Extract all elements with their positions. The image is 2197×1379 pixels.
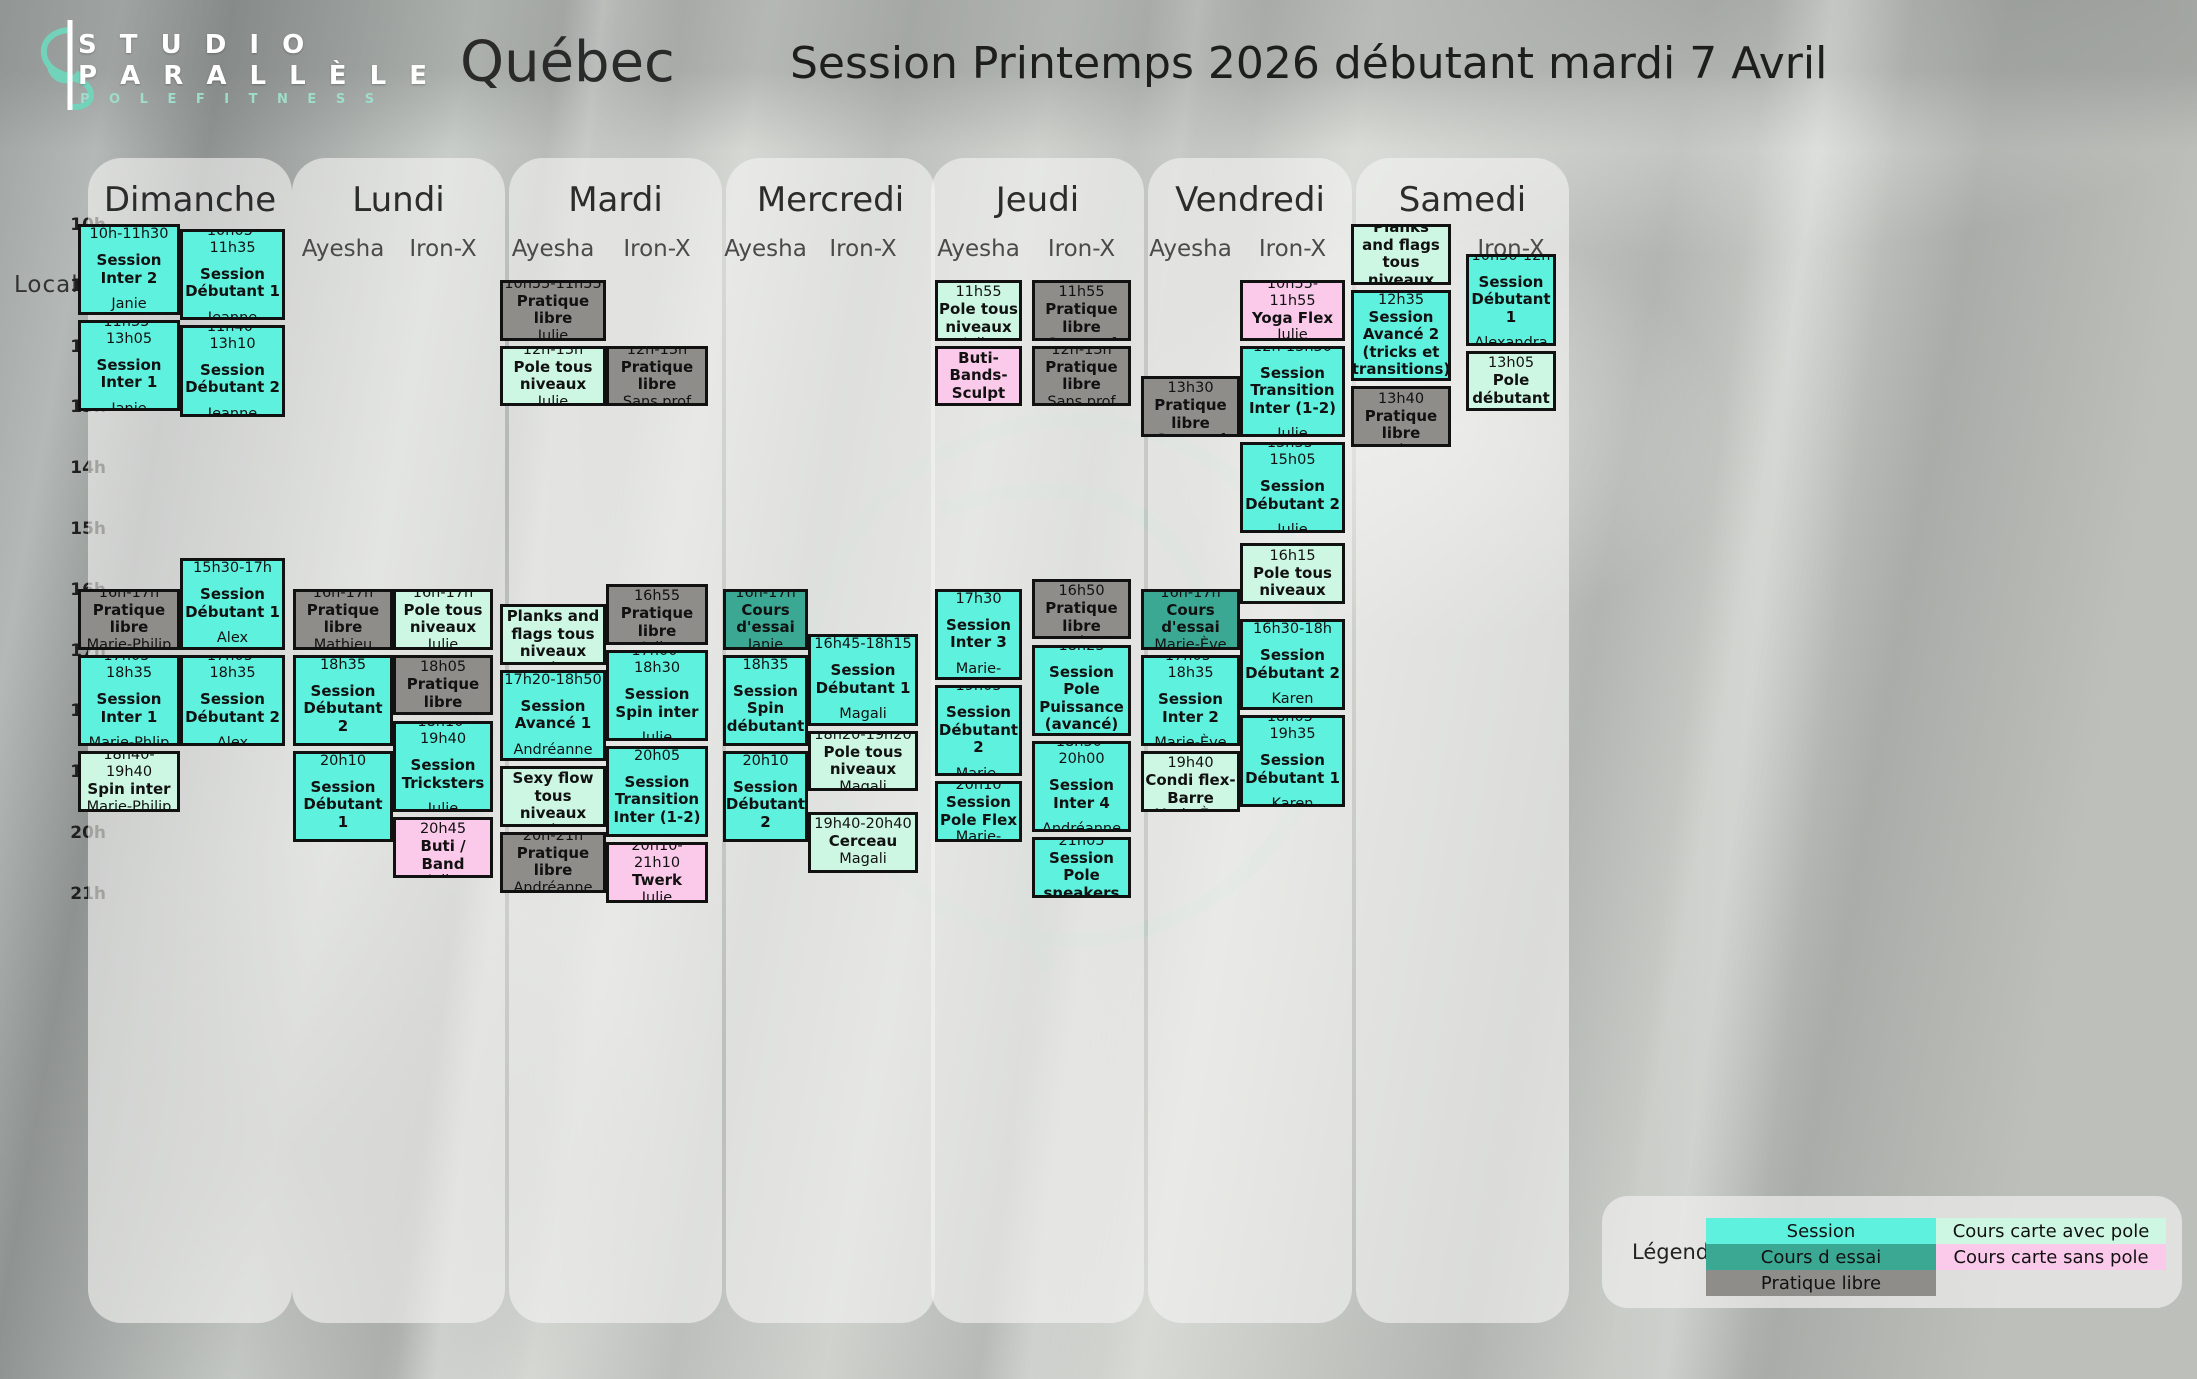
event-instructor: Julie [428, 873, 458, 877]
room-label-b-mardi: Iron-X [606, 236, 708, 262]
event-name: Pratique libre [1036, 359, 1127, 394]
event-instructor: Julie [1277, 426, 1307, 436]
event-name: Pole tous niveaux [939, 301, 1018, 336]
event-block[interactable]: 18h10-19h40Session TrickstersJulie [393, 721, 493, 812]
event-instructor: Alexandra [1474, 407, 1547, 411]
event-name: Session Tricksters [397, 757, 489, 792]
event-time: 17h05-18h35 [297, 655, 389, 674]
event-block[interactable]: 17h20-18h50Session Avancé 1Andréanne [500, 670, 606, 761]
event-name: Pole tous niveaux [504, 359, 602, 394]
event-time: 16h-17h [735, 589, 796, 602]
event-instructor: Marie-Phlip [89, 735, 170, 746]
event-time: 17h05-18h35 [1145, 655, 1236, 683]
event-time: 16h-17h [413, 589, 474, 602]
event-instructor: Sans prof [1156, 432, 1224, 436]
event-instructor: Julie [1277, 522, 1307, 533]
event-name: Buti-Bands-Sculpt [939, 350, 1018, 403]
event-time: 12h-13h [627, 346, 688, 359]
event-name: Pratique libre [504, 845, 602, 880]
event-block[interactable]: 19h45-20h45Buti / BandJulie [393, 817, 493, 878]
event-name: Session Débutant 2 [1244, 647, 1341, 682]
event-block[interactable]: 18h40-19h40Spin interMarie-Philip [78, 751, 180, 812]
event-time: 15h50-16h50 [1036, 579, 1127, 600]
event-name: Session Pole Puissance (avancé) [1036, 664, 1127, 734]
event-block[interactable]: 12h-13hButi-Bands-SculptJulie [935, 346, 1022, 407]
event-instructor: Sans prof [1047, 336, 1115, 340]
event-time: 16h55-18h25 [1036, 645, 1127, 655]
room-label-a-mercredi: Ayesha [723, 236, 808, 262]
event-time: 16h-17h [99, 589, 160, 602]
event-block[interactable]: 20h-21hPratique libreAndréanne [500, 832, 606, 893]
event-name: Session Débutant 1 [184, 586, 281, 621]
event-instructor: Julie [428, 637, 458, 650]
event-instructor: Janie [748, 637, 783, 650]
event-block[interactable]: 10h55-11h55Pratique libreSans prof [1032, 280, 1131, 341]
day-title-samedi: Samedi [1356, 180, 1569, 220]
event-instructor: Andréanne [513, 880, 592, 893]
event-block[interactable]: 10h05-11h35Session Débutant 1Jeanne [180, 229, 285, 320]
event-time: 18h40-20h10 [727, 751, 804, 770]
event-name: Session Inter 4 [1036, 777, 1127, 812]
event-time: 17h05-18h35 [82, 655, 176, 683]
event-name: Pratique libre [610, 359, 704, 394]
event-block[interactable]: 20h05-21h05Session Pole sneakersAndréann… [1032, 837, 1131, 898]
event-instructor: Karen [1272, 796, 1314, 807]
event-name: Buti / Band [397, 838, 489, 873]
event-time: 12h-13h30 [1253, 346, 1332, 356]
event-block[interactable]: 16h-17hCours d'essaiMarie-Ève [1141, 589, 1240, 650]
event-block[interactable]: 10h-11h30Session Inter 2Janie [78, 224, 180, 315]
event-name: Pratique libre [297, 602, 389, 637]
room-label-a-mardi: Ayesha [500, 236, 606, 262]
event-instructor: Marie-Philip [87, 799, 172, 812]
legend-item: Session [1706, 1218, 1936, 1244]
event-name: Pratique libre [1036, 301, 1127, 336]
event-block[interactable]: 18h40-20h10Session Débutant 1Mathieu [293, 751, 393, 842]
event-block[interactable]: 12h-13hPole tous niveauxJulie [500, 346, 606, 407]
event-time: 12h05-13h05 [1470, 351, 1552, 372]
event-block[interactable]: 18h55-19h55Sexy flow tous niveauxAndréan… [500, 766, 606, 827]
event-block[interactable]: 17h35-19h05Session Débutant 2Marie-Phili… [935, 685, 1022, 776]
event-time: 17h00-18h30 [610, 650, 704, 678]
event-block[interactable]: 17h05-18h35Session Spin débutantJanie [723, 655, 808, 746]
event-block[interactable]: 10h-11hPlanks and flags tous niveauxAndr… [1351, 224, 1451, 285]
event-time: 18h30-20h00 [1036, 741, 1127, 769]
event-block[interactable]: 10h55-11h55Pratique libreJulie [500, 280, 606, 341]
event-time: 17h05-18h35 [184, 655, 281, 683]
event-time: 15h30-17h [193, 560, 272, 577]
event-name: Pratique libre [1355, 408, 1447, 443]
event-block[interactable]: 12h05-13h05Pole débutantAlexandra [1466, 351, 1556, 412]
event-block[interactable]: 12h-13h30Session Transition Inter (1-2)J… [1240, 346, 1345, 437]
event-time: 11h05-12h35 [1355, 290, 1447, 309]
event-instructor: Magali [839, 779, 887, 792]
event-time: 19h45-20h45 [397, 817, 489, 838]
event-block[interactable]: 10h55-11h55Yoga FlexJulie [1240, 280, 1345, 341]
event-instructor: Mathieu [314, 840, 372, 842]
event-block[interactable]: 19h40-20h40CerceauMagali [808, 812, 918, 873]
event-name: Session Pole sneakers [1036, 850, 1127, 898]
event-instructor: Julie [642, 835, 672, 837]
event-instructor: Sans prof [623, 394, 691, 407]
event-time: 15h15-16h15 [1244, 543, 1341, 564]
event-block[interactable]: 18h30-20h00Session Inter 4Andréanne [1032, 741, 1131, 832]
event-block[interactable]: 18h35-20h05Session Transition Inter (1-2… [606, 746, 708, 837]
legend-item: Cours d essai [1706, 1244, 1936, 1270]
event-name: Cours d'essai [1145, 602, 1236, 637]
event-block[interactable]: 16h15-17h15Planks and flags tous niveaux… [500, 604, 606, 665]
event-name: Session Pole Flex [939, 794, 1018, 829]
event-block[interactable]: 11h35-13h05Session Inter 1Janie [78, 320, 180, 411]
event-instructor: Marie-Ève [1154, 637, 1226, 650]
event-instructor: Magali [839, 851, 887, 868]
event-name: Pratique libre [82, 602, 176, 637]
event-time: 20h10-21h10 [610, 842, 704, 872]
event-name: Pole tous niveaux [812, 744, 914, 779]
event-instructor: Andréanne [513, 742, 592, 759]
event-name: Pratique libre [504, 293, 602, 328]
event-time: 17h05-18h05 [397, 655, 489, 676]
event-instructor: Andréanne [1042, 821, 1121, 832]
brand-name: S T U D I O P A R A L L È L E [78, 30, 434, 92]
event-time: 18h40-20h10 [297, 751, 389, 770]
event-time: 10h30-12h [1472, 254, 1551, 264]
event-instructor: Julie [642, 890, 672, 903]
event-block[interactable]: 19h10-20h10Session Pole FlexMarie-Philip [935, 781, 1022, 842]
event-time: 12h-13h [1051, 346, 1112, 359]
room-label-b-lundi: Iron-X [393, 236, 493, 262]
room-label-b-vendredi: Iron-X [1240, 236, 1345, 262]
event-instructor: Karen [1272, 691, 1314, 708]
event-name: Pratique libre [1145, 397, 1236, 432]
event-name: Session Débutant 2 [1244, 478, 1341, 513]
event-name: Planks and flags tous niveaux [1355, 224, 1447, 285]
event-name: Condi flex-Barre [1145, 772, 1236, 807]
event-name: Pole tous niveaux [397, 602, 489, 637]
day-title-mercredi: Mercredi [726, 180, 935, 220]
event-name: Session Débutant 2 [184, 691, 281, 726]
event-instructor: Sans prof [1047, 394, 1115, 407]
event-time: 18h40-19h40 [82, 751, 176, 781]
event-name: Session Débutant 2 [939, 704, 1018, 757]
event-instructor: Julie [428, 711, 458, 715]
event-instructor: Andréanne [1361, 379, 1440, 381]
event-block[interactable]: 11h40-13h10Session Débutant 2Jeanne [180, 325, 285, 416]
event-time: 16h00-17h30 [939, 589, 1018, 608]
event-block[interactable]: 10h55-11h55Pole tous niveauxJulie [935, 280, 1022, 341]
event-instructor: Julie [963, 402, 993, 406]
event-block[interactable]: 15h55-16h55Pratique libreJulie [606, 584, 708, 645]
event-time: 18h05-19h35 [1244, 715, 1341, 743]
event-instructor: Julie [642, 640, 672, 644]
event-time: 20h-21h [523, 832, 584, 845]
event-block[interactable]: 10h30-12hSession Débutant 1Alexandra [1466, 254, 1556, 345]
event-name: Pratique libre [1036, 600, 1127, 635]
legend-item: Pratique libre [1706, 1270, 1936, 1296]
event-name: Twerk [632, 872, 682, 890]
event-time: 10h05-11h35 [184, 229, 281, 257]
room-label-b-mercredi: Iron-X [808, 236, 918, 262]
legend-item: Cours carte avec pole [1936, 1218, 2166, 1244]
room-label-a-jeudi: Ayesha [935, 236, 1022, 262]
event-instructor: Julie [428, 801, 458, 812]
event-block[interactable]: 17h05-18h35Session Inter 2Marie-Ève [1141, 655, 1240, 746]
event-time: 12h40-13h40 [1355, 386, 1447, 407]
event-instructor: Janie [748, 744, 783, 746]
event-name: Session Débutant 1 [184, 266, 281, 301]
event-time: 16h30-18h [1253, 621, 1332, 638]
event-name: Session Spin débutant [727, 683, 804, 736]
event-instructor: Julie [538, 328, 568, 341]
event-name: Session Inter 2 [1145, 691, 1236, 726]
room-label-a-lundi: Ayesha [293, 236, 393, 262]
brand-name-line1: S T U D I O [78, 30, 434, 61]
room-label-b-jeudi: Iron-X [1032, 236, 1131, 262]
event-instructor: Julie [963, 336, 993, 340]
event-instructor: Mathieu [314, 637, 372, 650]
day-title-mardi: Mardi [509, 180, 722, 220]
event-name: Sexy flow tous niveaux [504, 770, 602, 823]
event-name: Session Débutant 1 [1244, 752, 1341, 787]
event-name: Session Débutant 1 [297, 779, 389, 832]
event-time: 20h05-21h05 [1036, 837, 1127, 850]
event-instructor: Jeanne [208, 406, 257, 417]
event-block[interactable]: 16h30-18hSession Débutant 2Karen [1240, 619, 1345, 710]
event-block[interactable]: 17h05-18h35Session Débutant 2Mathieu [293, 655, 393, 746]
event-time: 18h20-19h20 [814, 731, 911, 744]
event-block[interactable]: 13h35-15h05Session Débutant 2Julie [1240, 442, 1345, 533]
event-instructor: Alex [217, 735, 248, 746]
event-time: 19h40-20h40 [814, 816, 911, 833]
event-name: Session Transition Inter (1-2) [1244, 365, 1341, 418]
event-name: Session Avancé 1 [504, 698, 602, 733]
event-block[interactable]: 18h40-19h40Condi flex-BarreMarie-Ève [1141, 751, 1240, 812]
event-name: Planks and flags tous niveaux [504, 608, 602, 661]
event-instructor: Magali [839, 706, 887, 723]
event-block[interactable]: 16h45-18h15Session Débutant 1Magali [808, 634, 918, 725]
event-block[interactable]: 12h-13hPratique libreSans prof [606, 346, 708, 407]
event-instructor: Marie-Philip [939, 766, 1018, 776]
event-instructor: Marie-Ève [1154, 807, 1226, 811]
event-time: 10h55-11h55 [504, 280, 601, 293]
event-block[interactable]: 16h-17hPratique libreMathieu [293, 589, 393, 650]
event-instructor: Jeanne [208, 310, 257, 321]
event-instructor: Mathieu [314, 744, 372, 746]
event-name: Session Spin inter [610, 686, 704, 721]
event-name: Session Inter 3 [939, 617, 1018, 652]
city-title: Québec [460, 30, 675, 95]
event-block[interactable]: 16h-17hCours d'essaiJanie [723, 589, 808, 650]
event-instructor: Janie [111, 401, 146, 412]
day-title-vendredi: Vendredi [1148, 180, 1352, 220]
event-instructor: Andréanne [1042, 635, 1121, 639]
event-instructor: Marie-Ève [1154, 735, 1226, 746]
event-instructor: Alex [217, 630, 248, 647]
room-label-a-vendredi: Ayesha [1141, 236, 1240, 262]
event-block[interactable]: 15h15-16h15Pole tous niveauxJulie [1240, 543, 1345, 604]
event-time: 10h55-11h55 [1244, 280, 1341, 310]
event-time: 12h-13h [523, 346, 584, 359]
event-time: 16h-17h [313, 589, 374, 602]
event-instructor: Andréanne [513, 661, 592, 665]
event-time: 11h35-13h05 [82, 320, 176, 348]
day-title-dimanche: Dimanche [88, 180, 292, 220]
event-block[interactable]: 12h40-13h40Pratique libreAndréanne [1351, 386, 1451, 447]
event-instructor: Julie [538, 394, 568, 407]
event-block[interactable]: 15h50-16h50Pratique libreAndréanne [1032, 579, 1131, 640]
brand-tagline: P O L E F I T N E S S [80, 92, 382, 107]
event-instructor: Marie-Philip [87, 637, 172, 650]
event-instructor: Alexandra [1474, 335, 1547, 345]
event-block[interactable]: 17h00-18h30Session Spin interJulie [606, 650, 708, 741]
event-time: 13h35-15h05 [1244, 442, 1341, 470]
event-block[interactable]: 12h30-13h30Pratique libreSans prof [1141, 376, 1240, 437]
event-instructor: Julie [1277, 600, 1307, 604]
event-instructor: Julie [1277, 327, 1307, 340]
event-time: 11h40-13h10 [184, 325, 281, 353]
event-name: Yoga Flex [1252, 310, 1333, 328]
event-time: 18h35-20h05 [610, 746, 704, 765]
event-time: 17h35-19h05 [939, 685, 1018, 695]
event-instructor: Julie [642, 730, 672, 741]
event-time: 18h10-19h40 [397, 721, 489, 749]
event-name: Cerceau [829, 833, 897, 851]
event-time: 10h55-11h55 [1036, 280, 1127, 301]
event-name: Session Débutant 1 [1470, 274, 1552, 327]
event-block[interactable]: 17h05-18h35Session Débutant 2Alex [180, 655, 285, 746]
event-name: Session Débutant 2 [297, 683, 389, 736]
event-block[interactable]: 12h-13hPratique libreSans prof [1032, 346, 1131, 407]
event-name: Session Inter 1 [82, 691, 176, 726]
event-time: 18h40-19h40 [1145, 751, 1236, 772]
day-title-jeudi: Jeudi [931, 180, 1144, 220]
event-block[interactable]: 16h-17hPratique libreMarie-Philip [78, 589, 180, 650]
event-block[interactable]: 16h00-17h30Session Inter 3Marie-Philip [935, 589, 1022, 680]
event-instructor: Marie-Philip [939, 661, 1018, 680]
event-block[interactable]: 17h05-18h35Session Inter 1Marie-Phlip [78, 655, 180, 746]
event-time: 17h20-18h50 [504, 672, 601, 689]
event-time: 16h-17h [1160, 589, 1221, 602]
event-name: Session Débutant 2 [184, 362, 281, 397]
event-name: Session Inter 1 [82, 357, 176, 392]
event-block[interactable]: 16h-17hPole tous niveauxJulie [393, 589, 493, 650]
event-block[interactable]: 15h30-17hSession Débutant 1Alex [180, 558, 285, 649]
event-name: Pratique libre [610, 605, 704, 640]
day-title-lundi: Lundi [292, 180, 505, 220]
event-instructor: Andréanne [513, 823, 592, 827]
event-name: Cours d'essai [727, 602, 804, 637]
event-time: 16h45-18h15 [814, 636, 911, 653]
event-time: 17h05-18h35 [727, 655, 804, 674]
event-instructor: Janie [748, 840, 783, 842]
event-block[interactable]: 18h05-19h35Session Débutant 1Karen [1240, 715, 1345, 806]
event-instructor: Marie-Philip [939, 829, 1018, 842]
event-instructor: Andréanne [1361, 443, 1440, 447]
event-block[interactable]: 16h55-18h25Session Pole Puissance (avanc… [1032, 645, 1131, 736]
event-name: Session Transition Inter (1-2) [610, 774, 704, 827]
event-time: 10h-11h30 [90, 226, 169, 243]
brand-name-line2: P A R A L L È L E [78, 61, 434, 92]
event-name: Session Débutant 1 [812, 662, 914, 697]
session-title: Session Printemps 2026 débutant mardi 7 … [790, 38, 1827, 89]
event-time: 10h55-11h55 [939, 280, 1018, 301]
event-block[interactable]: 18h40-20h10Session Débutant 2Janie [723, 751, 808, 842]
event-name: Pratique libre [397, 676, 489, 711]
event-instructor: Janie [111, 296, 146, 313]
event-block[interactable]: 20h10-21h10TwerkJulie [606, 842, 708, 903]
event-name: Pole débutant [1470, 372, 1552, 407]
legend-item: Cours carte sans pole [1936, 1244, 2166, 1270]
event-name: Session Avancé 2 (tricks et transitions) [1352, 309, 1451, 379]
event-time: 15h55-16h55 [610, 584, 704, 605]
event-name: Session Inter 2 [82, 252, 176, 287]
event-time: 12h30-13h30 [1145, 376, 1236, 397]
event-name: Pole tous niveaux [1244, 565, 1341, 600]
event-name: Session Débutant 2 [726, 779, 805, 832]
legend-panel: Légende SessionCours d essaiPratique lib… [1602, 1196, 2182, 1308]
event-block[interactable]: 18h20-19h20Pole tous niveauxMagali [808, 731, 918, 792]
event-block[interactable]: 11h05-12h35Session Avancé 2 (tricks et t… [1351, 290, 1451, 381]
event-name: Spin inter [87, 781, 170, 799]
event-block[interactable]: 17h05-18h05Pratique libreJulie [393, 655, 493, 716]
